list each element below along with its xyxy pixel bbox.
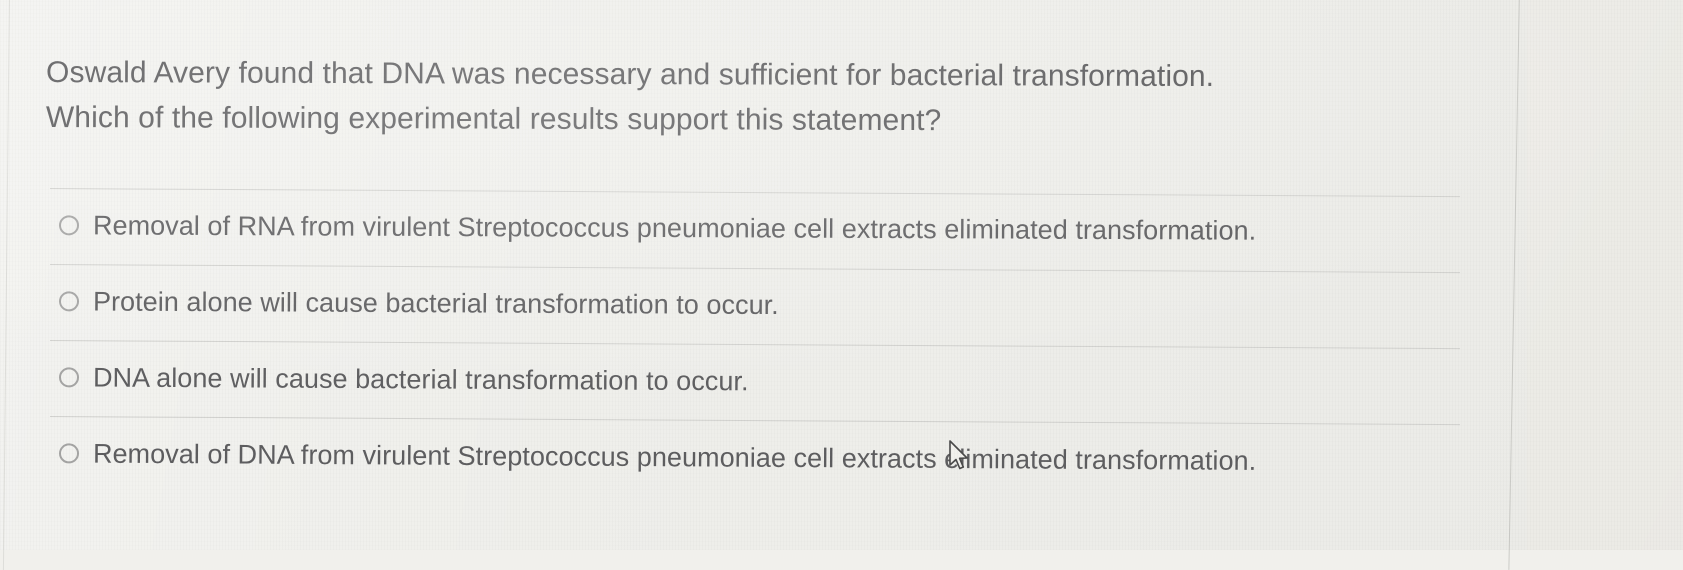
radio-button-a[interactable] <box>59 215 79 235</box>
option-label-c: DNA alone will cause bacterial transform… <box>93 361 749 399</box>
option-row-c[interactable]: DNA alone will cause bacterial transform… <box>0 340 1527 416</box>
option-content-a[interactable]: Removal of RNA from virulent Streptococc… <box>0 208 1256 248</box>
radio-button-b[interactable] <box>59 291 79 311</box>
question-line-2: Which of the following experimental resu… <box>46 95 1376 145</box>
option-content-d[interactable]: Removal of DNA from virulent Streptococc… <box>0 436 1256 478</box>
answer-options-list: Removal of RNA from virulent Streptococc… <box>0 188 1527 492</box>
option-content-b[interactable]: Protein alone will cause bacterial trans… <box>0 284 779 322</box>
option-divider <box>50 264 1460 273</box>
option-divider <box>50 340 1460 349</box>
option-divider <box>50 416 1460 425</box>
option-row-a[interactable]: Removal of RNA from virulent Streptococc… <box>0 188 1527 264</box>
quiz-page: Oswald Avery found that DNA was necessar… <box>0 0 1527 550</box>
screenshot-canvas: Oswald Avery found that DNA was necessar… <box>0 0 1683 550</box>
question-panel: Oswald Avery found that DNA was necessar… <box>0 0 1527 550</box>
option-label-b: Protein alone will cause bacterial trans… <box>93 284 779 322</box>
option-divider <box>50 188 1460 197</box>
question-prompt: Oswald Avery found that DNA was necessar… <box>46 50 1376 145</box>
option-row-d[interactable]: Removal of DNA from virulent Streptococc… <box>0 416 1527 492</box>
question-line-1: Oswald Avery found that DNA was necessar… <box>46 50 1376 100</box>
option-content-c[interactable]: DNA alone will cause bacterial transform… <box>0 360 749 398</box>
option-label-d: Removal of DNA from virulent Streptococc… <box>93 437 1256 478</box>
radio-button-c[interactable] <box>59 367 79 387</box>
option-label-a: Removal of RNA from virulent Streptococc… <box>93 208 1256 247</box>
radio-button-d[interactable] <box>59 443 79 463</box>
option-row-b[interactable]: Protein alone will cause bacterial trans… <box>0 264 1527 340</box>
